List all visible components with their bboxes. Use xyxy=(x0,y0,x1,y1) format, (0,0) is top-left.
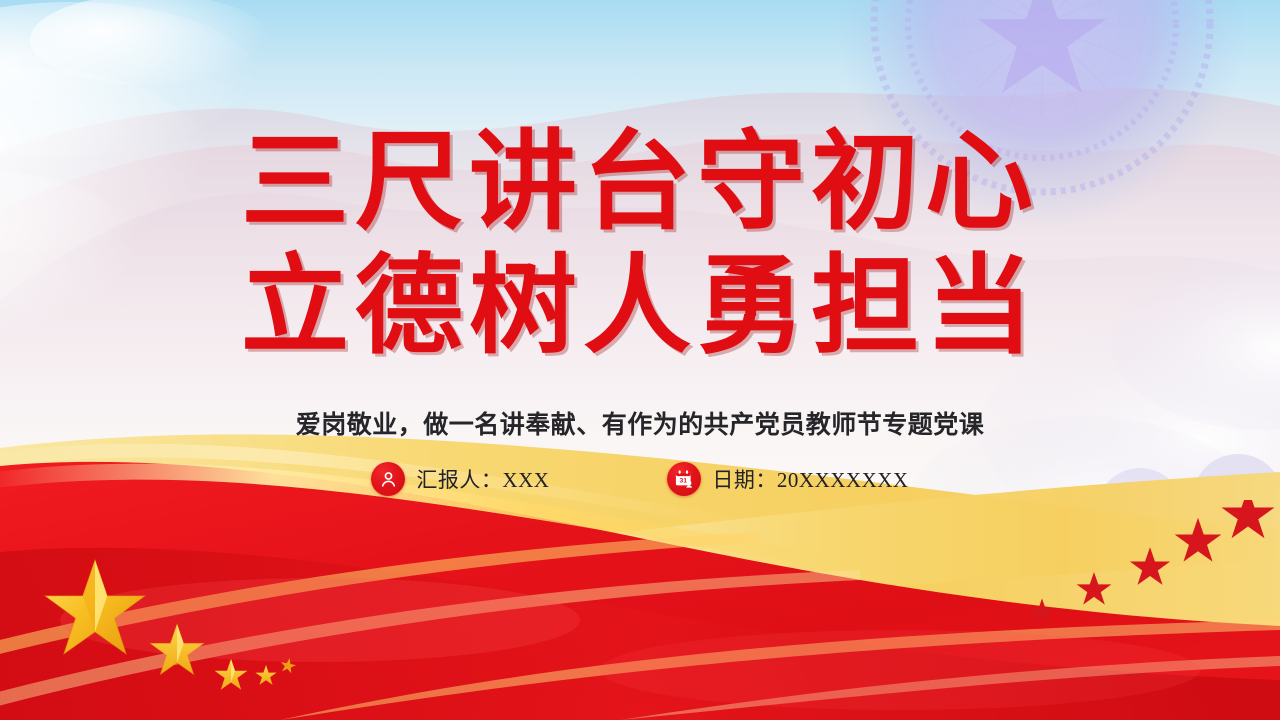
subtitle: 爱岗敬业，做一名讲奉献、有作为的共产党员教师节专题党课 xyxy=(0,409,1280,441)
presentation-slide: 三尺讲台守初心 立德树人勇担当 爱岗敬业，做一名讲奉献、有作为的共产党员教师节专… xyxy=(0,0,1280,720)
calendar-icon: 31 xyxy=(667,462,701,496)
person-icon xyxy=(371,462,405,496)
title-line-2: 立德树人勇担当 xyxy=(0,250,1280,362)
date-label: 日期：20XXXXXXX xyxy=(712,464,908,494)
title-block: 三尺讲台守初心 立德树人勇担当 xyxy=(0,126,1280,362)
presenter-label: 汇报人：XXX xyxy=(416,464,549,494)
svg-text:31: 31 xyxy=(680,477,688,484)
red-stars-decoration xyxy=(980,500,1280,720)
title-line-1: 三尺讲台守初心 xyxy=(0,126,1280,238)
presenter-item: 汇报人：XXX xyxy=(371,462,549,496)
meta-row: 汇报人：XXX 31 日期：20XXXXXXX xyxy=(0,462,1280,496)
date-item: 31 日期：20XXXXXXX xyxy=(667,462,908,496)
gold-stars-decoration xyxy=(0,500,360,720)
